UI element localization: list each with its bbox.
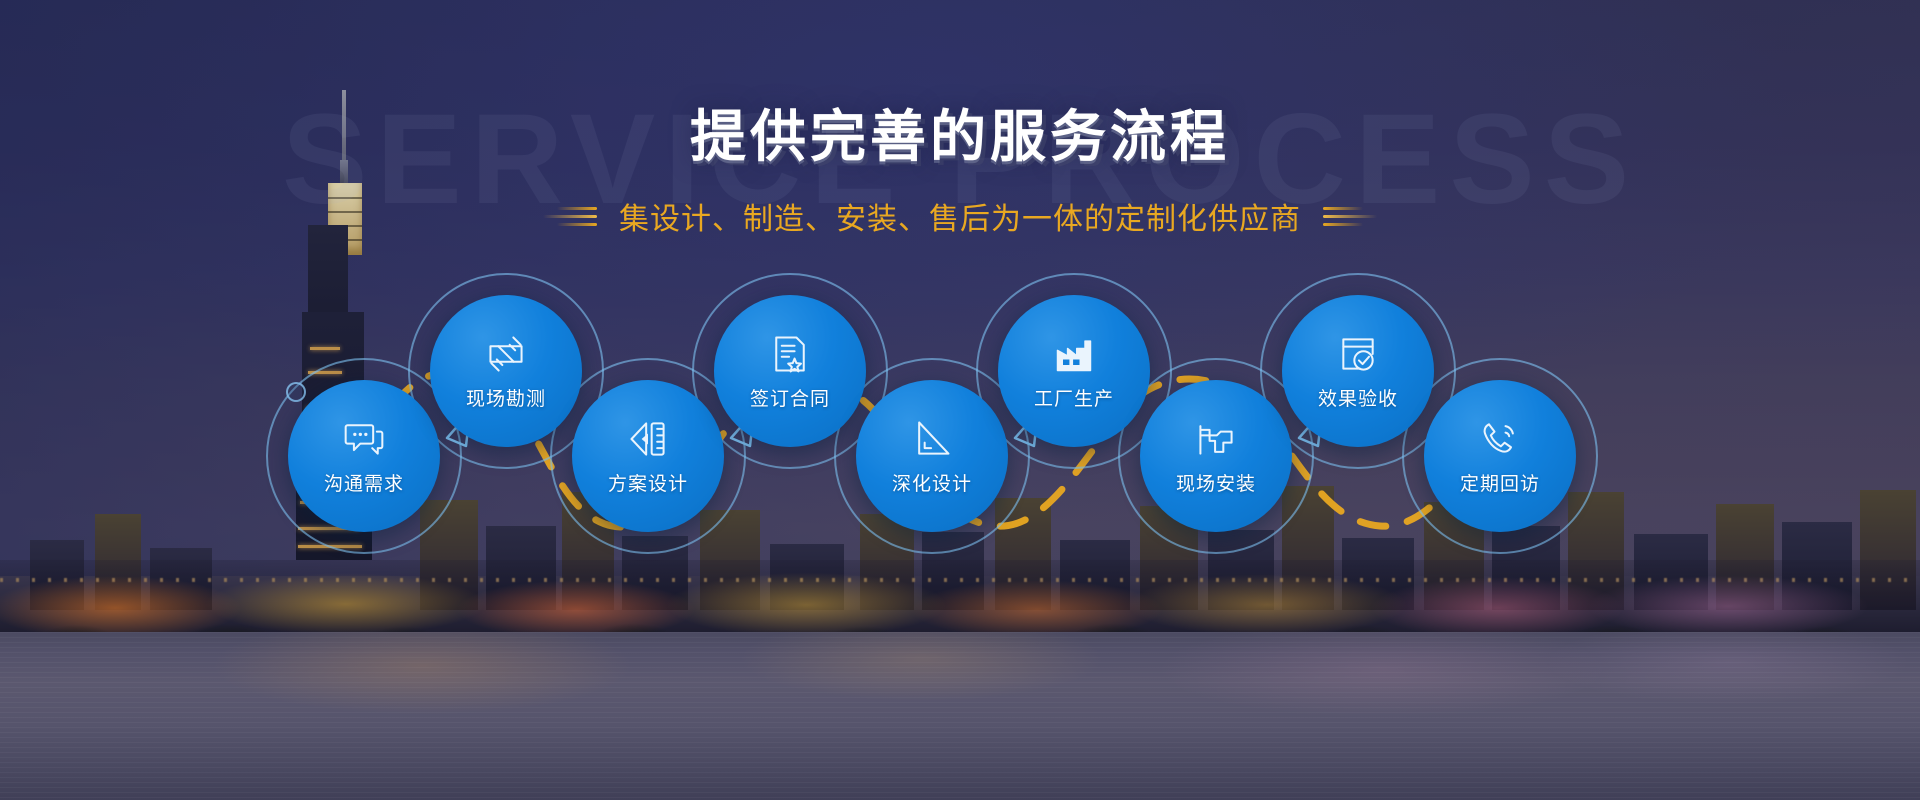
process-step-6-label: 工厂生产 [1034, 384, 1114, 411]
process-flow-diagram: 沟通需求 现场勘测 [0, 300, 1920, 630]
chat-bubble-icon [342, 417, 386, 461]
process-step-4-label: 签订合同 [750, 384, 830, 411]
process-step-2-label: 现场勘测 [466, 384, 546, 411]
set-square-icon [910, 417, 954, 461]
service-process-banner: SERVICE PROCESS 提供完善的服务流程 集设计、制造、安装、售后为一… [0, 0, 1920, 800]
process-step-3-label: 方案设计 [608, 469, 688, 496]
checked-window-icon [1336, 332, 1380, 376]
ruler-pencil-icon [484, 332, 528, 376]
page-title: 提供完善的服务流程 [0, 105, 1920, 169]
water-reflection [0, 632, 1920, 800]
process-step-8-label: 效果验收 [1318, 384, 1398, 411]
process-step-9-label: 定期回访 [1460, 469, 1540, 496]
factory-icon [1052, 332, 1096, 376]
page-subtitle: 集设计、制造、安装、售后为一体的定制化供应商 [619, 194, 1301, 238]
power-drill-icon [1194, 417, 1238, 461]
process-step-4[interactable]: 签订合同 [714, 295, 866, 447]
process-step-2[interactable]: 现场勘测 [430, 295, 582, 447]
subtitle-row: 集设计、制造、安装、售后为一体的定制化供应商 [0, 194, 1920, 238]
process-step-3[interactable]: 方案设计 [572, 380, 724, 532]
flow-start-marker-icon [286, 382, 306, 402]
process-step-7[interactable]: 现场安装 [1140, 380, 1292, 532]
contract-doc-icon [768, 332, 812, 376]
process-step-6[interactable]: 工厂生产 [998, 295, 1150, 447]
process-step-1-label: 沟通需求 [324, 469, 404, 496]
subtitle-left-lines-icon [539, 203, 597, 229]
process-step-1[interactable]: 沟通需求 [288, 380, 440, 532]
phone-call-icon [1478, 417, 1522, 461]
subtitle-right-lines-icon [1323, 203, 1381, 229]
process-step-5[interactable]: 深化设计 [856, 380, 1008, 532]
process-step-7-label: 现场安装 [1176, 469, 1256, 496]
process-step-5-label: 深化设计 [892, 469, 972, 496]
process-step-9[interactable]: 定期回访 [1424, 380, 1576, 532]
process-step-8[interactable]: 效果验收 [1282, 295, 1434, 447]
design-layout-icon [626, 417, 670, 461]
